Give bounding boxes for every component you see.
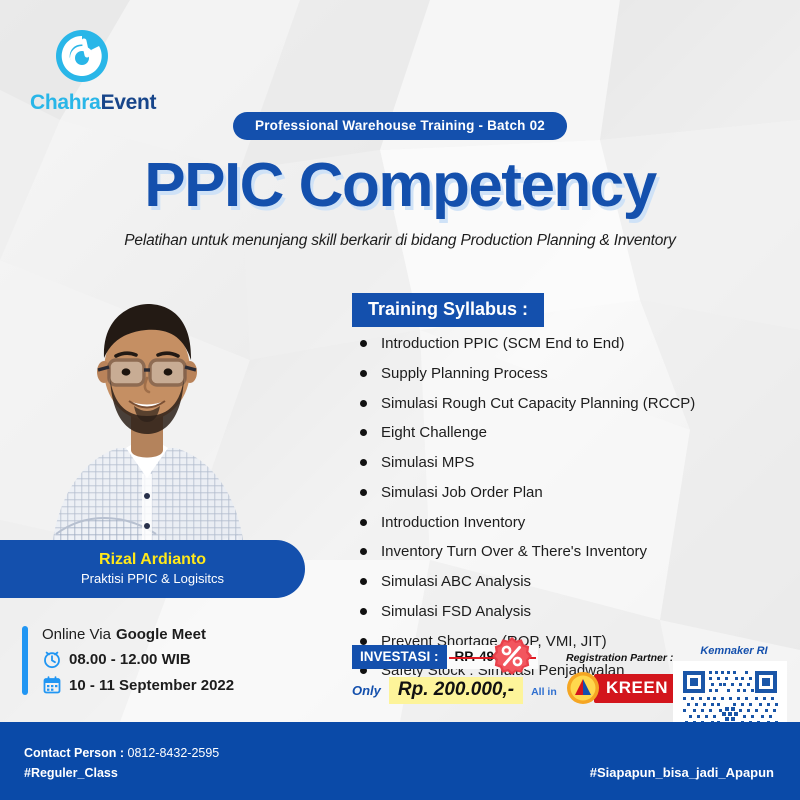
bullet-icon	[360, 519, 367, 526]
syllabus-item-label: Introduction PPIC (SCM End to End)	[381, 334, 624, 354]
calendar-icon	[42, 675, 62, 695]
syllabus-item-label: Simulasi FSD Analysis	[381, 602, 531, 622]
brand-logo: ChahraEvent	[30, 28, 180, 115]
hashtag-right: #Siapapun_bisa_jadi_Apapun	[590, 765, 774, 780]
syllabus-item-label: Simulasi Job Order Plan	[381, 483, 543, 503]
bullet-icon	[360, 429, 367, 436]
investment-label: INVESTASI :	[352, 645, 447, 669]
syllabus-item-label: Simulasi Rough Cut Capacity Planning (RC…	[381, 394, 695, 414]
syllabus-item: Introduction PPIC (SCM End to End)	[360, 334, 790, 354]
bullet-icon	[360, 578, 367, 585]
hashtag-left: #Reguler_Class	[24, 763, 219, 783]
chahra-circle-logo-icon	[54, 28, 110, 84]
training-poster: ChahraEvent Professional Warehouse Train…	[0, 0, 800, 800]
contact-number: 0812-8432-2595	[128, 746, 220, 760]
bullet-icon	[360, 489, 367, 496]
schedule-accent-bar	[22, 626, 28, 695]
schedule-time-row: 08.00 - 12.00 WIB	[42, 649, 234, 669]
syllabus-item-label: Simulasi ABC Analysis	[381, 572, 531, 592]
syllabus-list: Introduction PPIC (SCM End to End)Supply…	[360, 334, 790, 691]
registration-partner-label: Registration Partner :	[566, 652, 686, 664]
syllabus-item-label: Introduction Inventory	[381, 513, 525, 533]
syllabus-item: Simulasi FSD Analysis	[360, 602, 790, 622]
syllabus-item: Simulasi ABC Analysis	[360, 572, 790, 592]
bullet-icon	[360, 370, 367, 377]
kreen-arrow-icon	[566, 671, 600, 705]
platform-name: Google Meet	[116, 626, 206, 643]
syllabus-item-label: Simulasi MPS	[381, 453, 474, 473]
syllabus-heading: Training Syllabus :	[352, 293, 544, 327]
percent-badge-icon	[492, 636, 532, 676]
bullet-icon	[360, 340, 367, 347]
investment-block: INVESTASI : RP. 499.000 Only Rp. 200.000…	[352, 645, 552, 704]
all-in-label: All in	[531, 686, 557, 698]
speaker-photo	[32, 282, 262, 572]
syllabus-item: Eight Challenge	[360, 423, 790, 443]
page-title: PPIC Competency	[0, 150, 800, 221]
syllabus-item: Simulasi Job Order Plan	[360, 483, 790, 503]
speaker-name: Rizal Ardianto	[99, 550, 206, 570]
syllabus-item-label: Supply Planning Process	[381, 364, 548, 384]
speaker-banner: Rizal Ardianto Praktisi PPIC & Logisitcs	[0, 540, 305, 598]
brand-name: ChahraEvent	[30, 91, 180, 115]
bullet-icon	[360, 548, 367, 555]
syllabus-item: Introduction Inventory	[360, 513, 790, 533]
clock-icon	[42, 649, 62, 669]
contact-line: Contact Person : 0812-8432-2595	[24, 744, 219, 763]
syllabus-item: Simulasi Rough Cut Capacity Planning (RC…	[360, 394, 790, 414]
bullet-icon	[360, 459, 367, 466]
schedule-platform-row: Online Via Google Meet	[42, 626, 234, 643]
kreen-logo: KREEN	[566, 671, 686, 705]
contact-label: Contact Person :	[24, 746, 124, 760]
brand-name-part1: Chahra	[30, 91, 101, 114]
speaker-role: Praktisi PPIC & Logisitcs	[81, 570, 224, 588]
only-label: Only	[352, 683, 381, 698]
syllabus-item: Simulasi MPS	[360, 453, 790, 473]
platform-label: Online Via	[42, 626, 111, 643]
brand-name-part2: Event	[101, 91, 157, 114]
schedule-date: 10 - 11 September 2022	[69, 677, 234, 694]
footer-left: Contact Person : 0812-8432-2595 #Reguler…	[24, 744, 219, 783]
page-subtitle: Pelatihan untuk menunjang skill berkarir…	[0, 232, 800, 250]
syllabus-item: Supply Planning Process	[360, 364, 790, 384]
bullet-icon	[360, 400, 367, 407]
schedule-time: 08.00 - 12.00 WIB	[69, 651, 191, 668]
registration-partner-block: Registration Partner : KREEN	[566, 652, 686, 705]
qr-label: Kemnaker RI	[681, 645, 787, 657]
batch-badge: Professional Warehouse Training - Batch …	[233, 112, 567, 140]
bullet-icon	[360, 638, 367, 645]
syllabus-item-label: Eight Challenge	[381, 423, 487, 443]
bullet-icon	[360, 608, 367, 615]
schedule-date-row: 10 - 11 September 2022	[42, 675, 234, 695]
current-price: Rp. 200.000,-	[389, 677, 523, 704]
syllabus-item: Inventory Turn Over & There's Inventory	[360, 542, 790, 562]
syllabus-item-label: Inventory Turn Over & There's Inventory	[381, 542, 647, 562]
kreen-wordmark: KREEN	[594, 674, 678, 703]
schedule-block: Online Via Google Meet 08.00 - 12.00 WIB	[22, 626, 234, 695]
